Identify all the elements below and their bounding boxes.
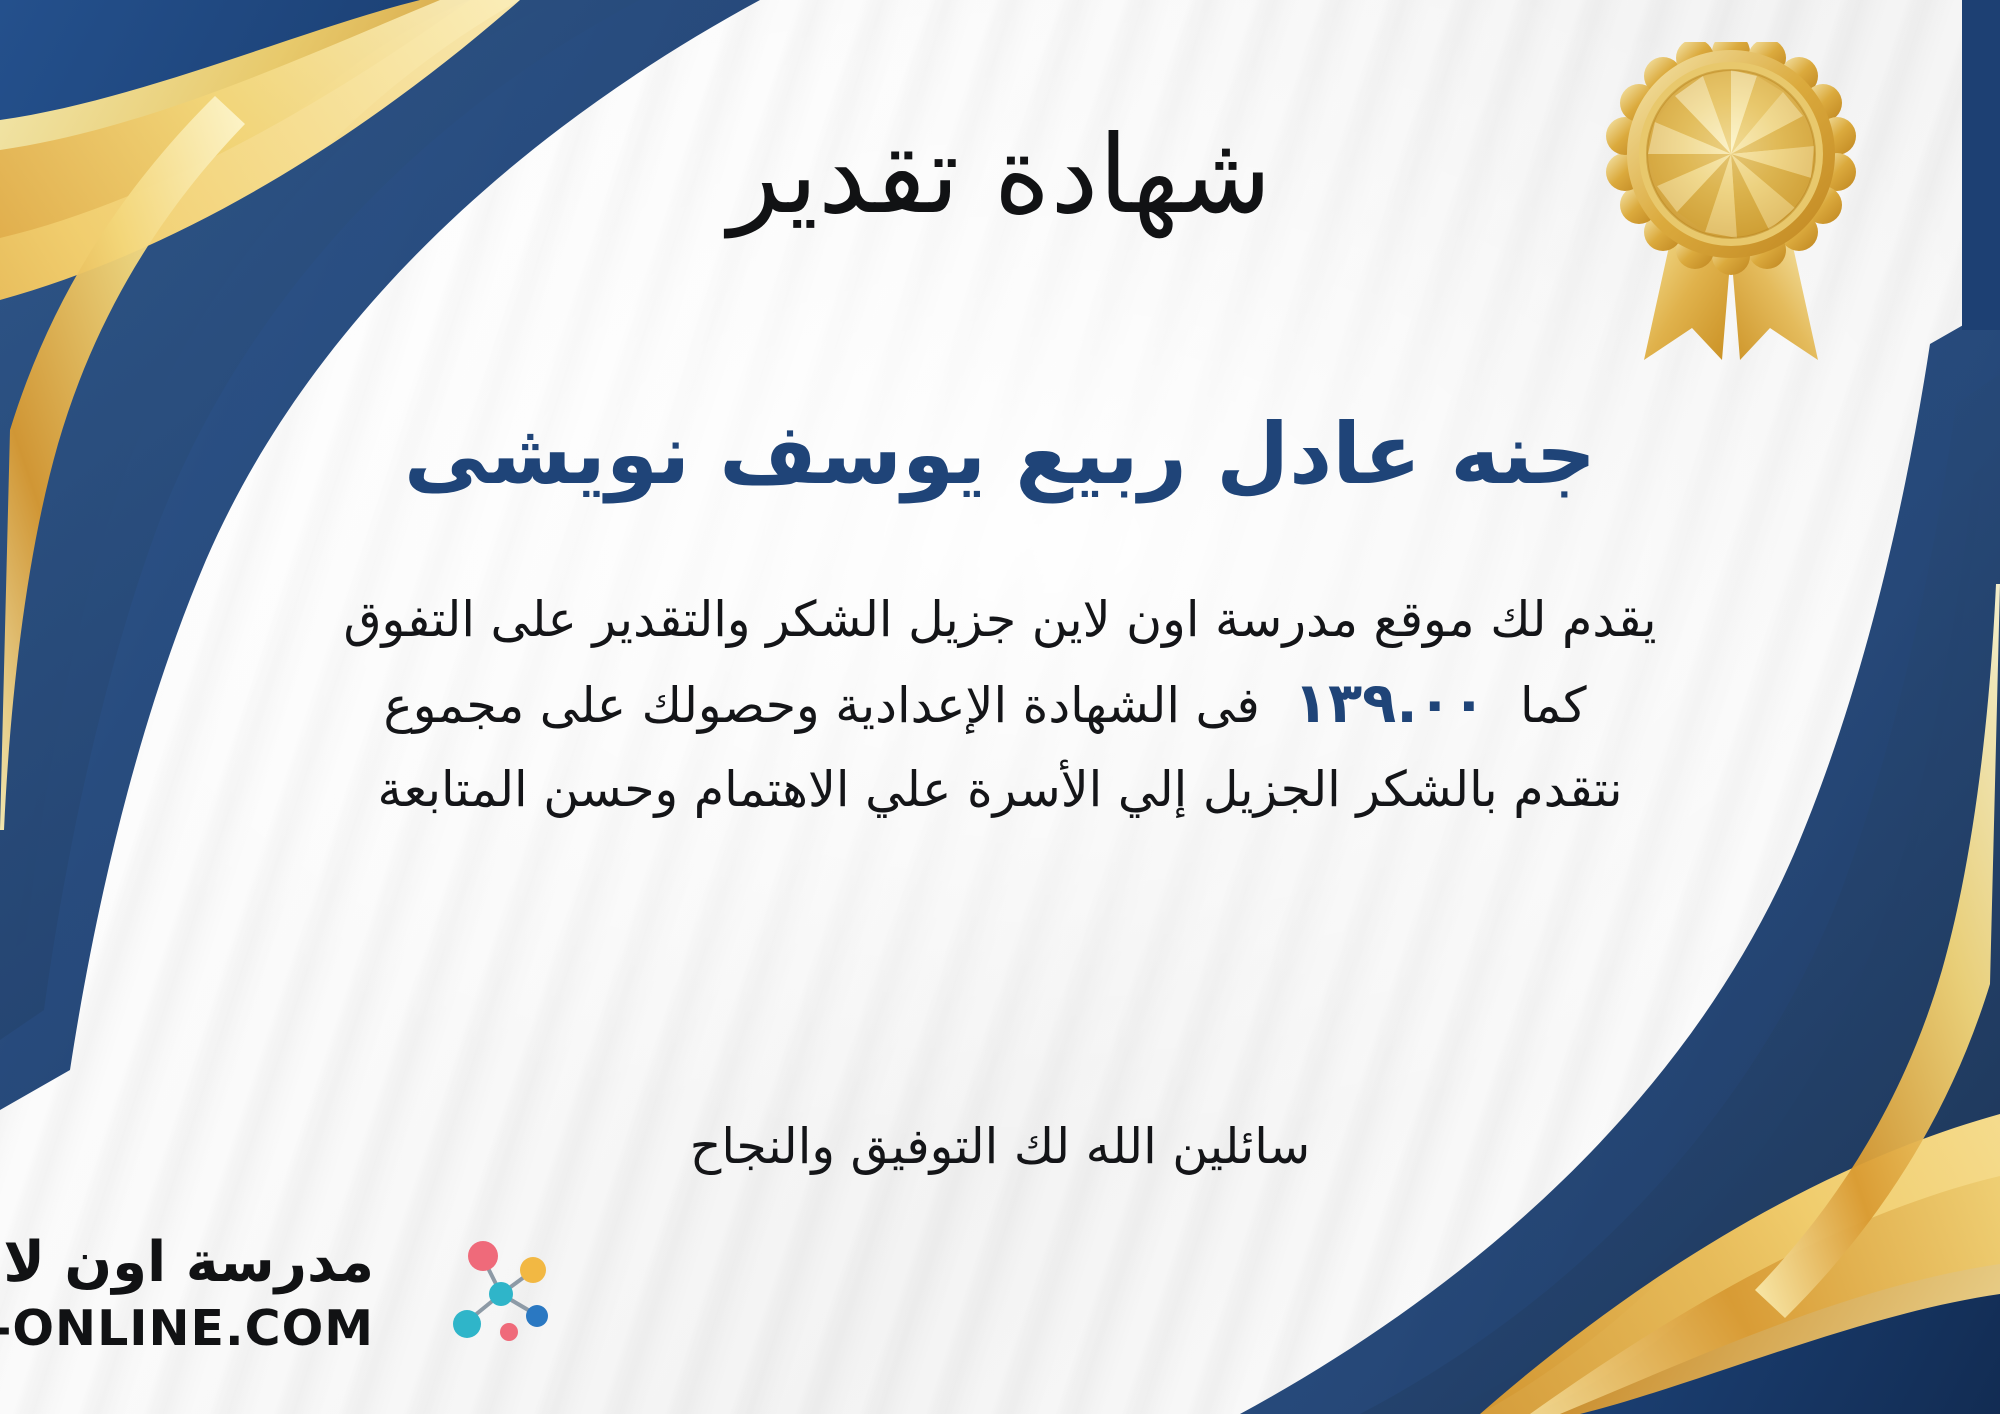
certificate-content: شهادة تقدير جنه عادل ربيع يوسف نويشى يقد… — [0, 0, 2000, 1414]
certificate-canvas: شهادة تقدير جنه عادل ربيع يوسف نويشى يقد… — [0, 0, 2000, 1414]
page-title: شهادة تقدير — [0, 108, 2000, 243]
site-logo-url-text: MADRSA-ONLINE.COM — [0, 1300, 374, 1357]
citation-line-2-suffix: كما — [1520, 666, 1617, 745]
student-name: جنه عادل ربيع يوسف نويشى — [0, 400, 2000, 509]
site-logo-arabic-text: مدرسة اون لاين — [0, 1230, 374, 1295]
citation-line-2-prefix: فى الشهادة الإعدادية وحصولك على مجموع — [383, 666, 1259, 745]
closing-wish: سائلين الله لك التوفيق والنجاح — [0, 1110, 2000, 1184]
citation-line-1: يقدم لك موقع مدرسة اون لاين جزيل الشكر و… — [60, 580, 1940, 659]
site-logo[interactable]: مدرسة اون لاين MADRSA-ONLINE.COM — [24, 1230, 494, 1370]
citation-line-3: نتقدم بالشكر الجزيل إلي الأسرة علي الاهت… — [60, 750, 1940, 829]
citation-body: يقدم لك موقع مدرسة اون لاين جزيل الشكر و… — [60, 580, 1940, 829]
citation-line-2: كما ١٣٩.٠٠ فى الشهادة الإعدادية وحصولك ع… — [60, 659, 1940, 750]
network-nodes-icon — [439, 1236, 557, 1354]
grade-total-value: ١٣٩.٠٠ — [1260, 659, 1520, 750]
